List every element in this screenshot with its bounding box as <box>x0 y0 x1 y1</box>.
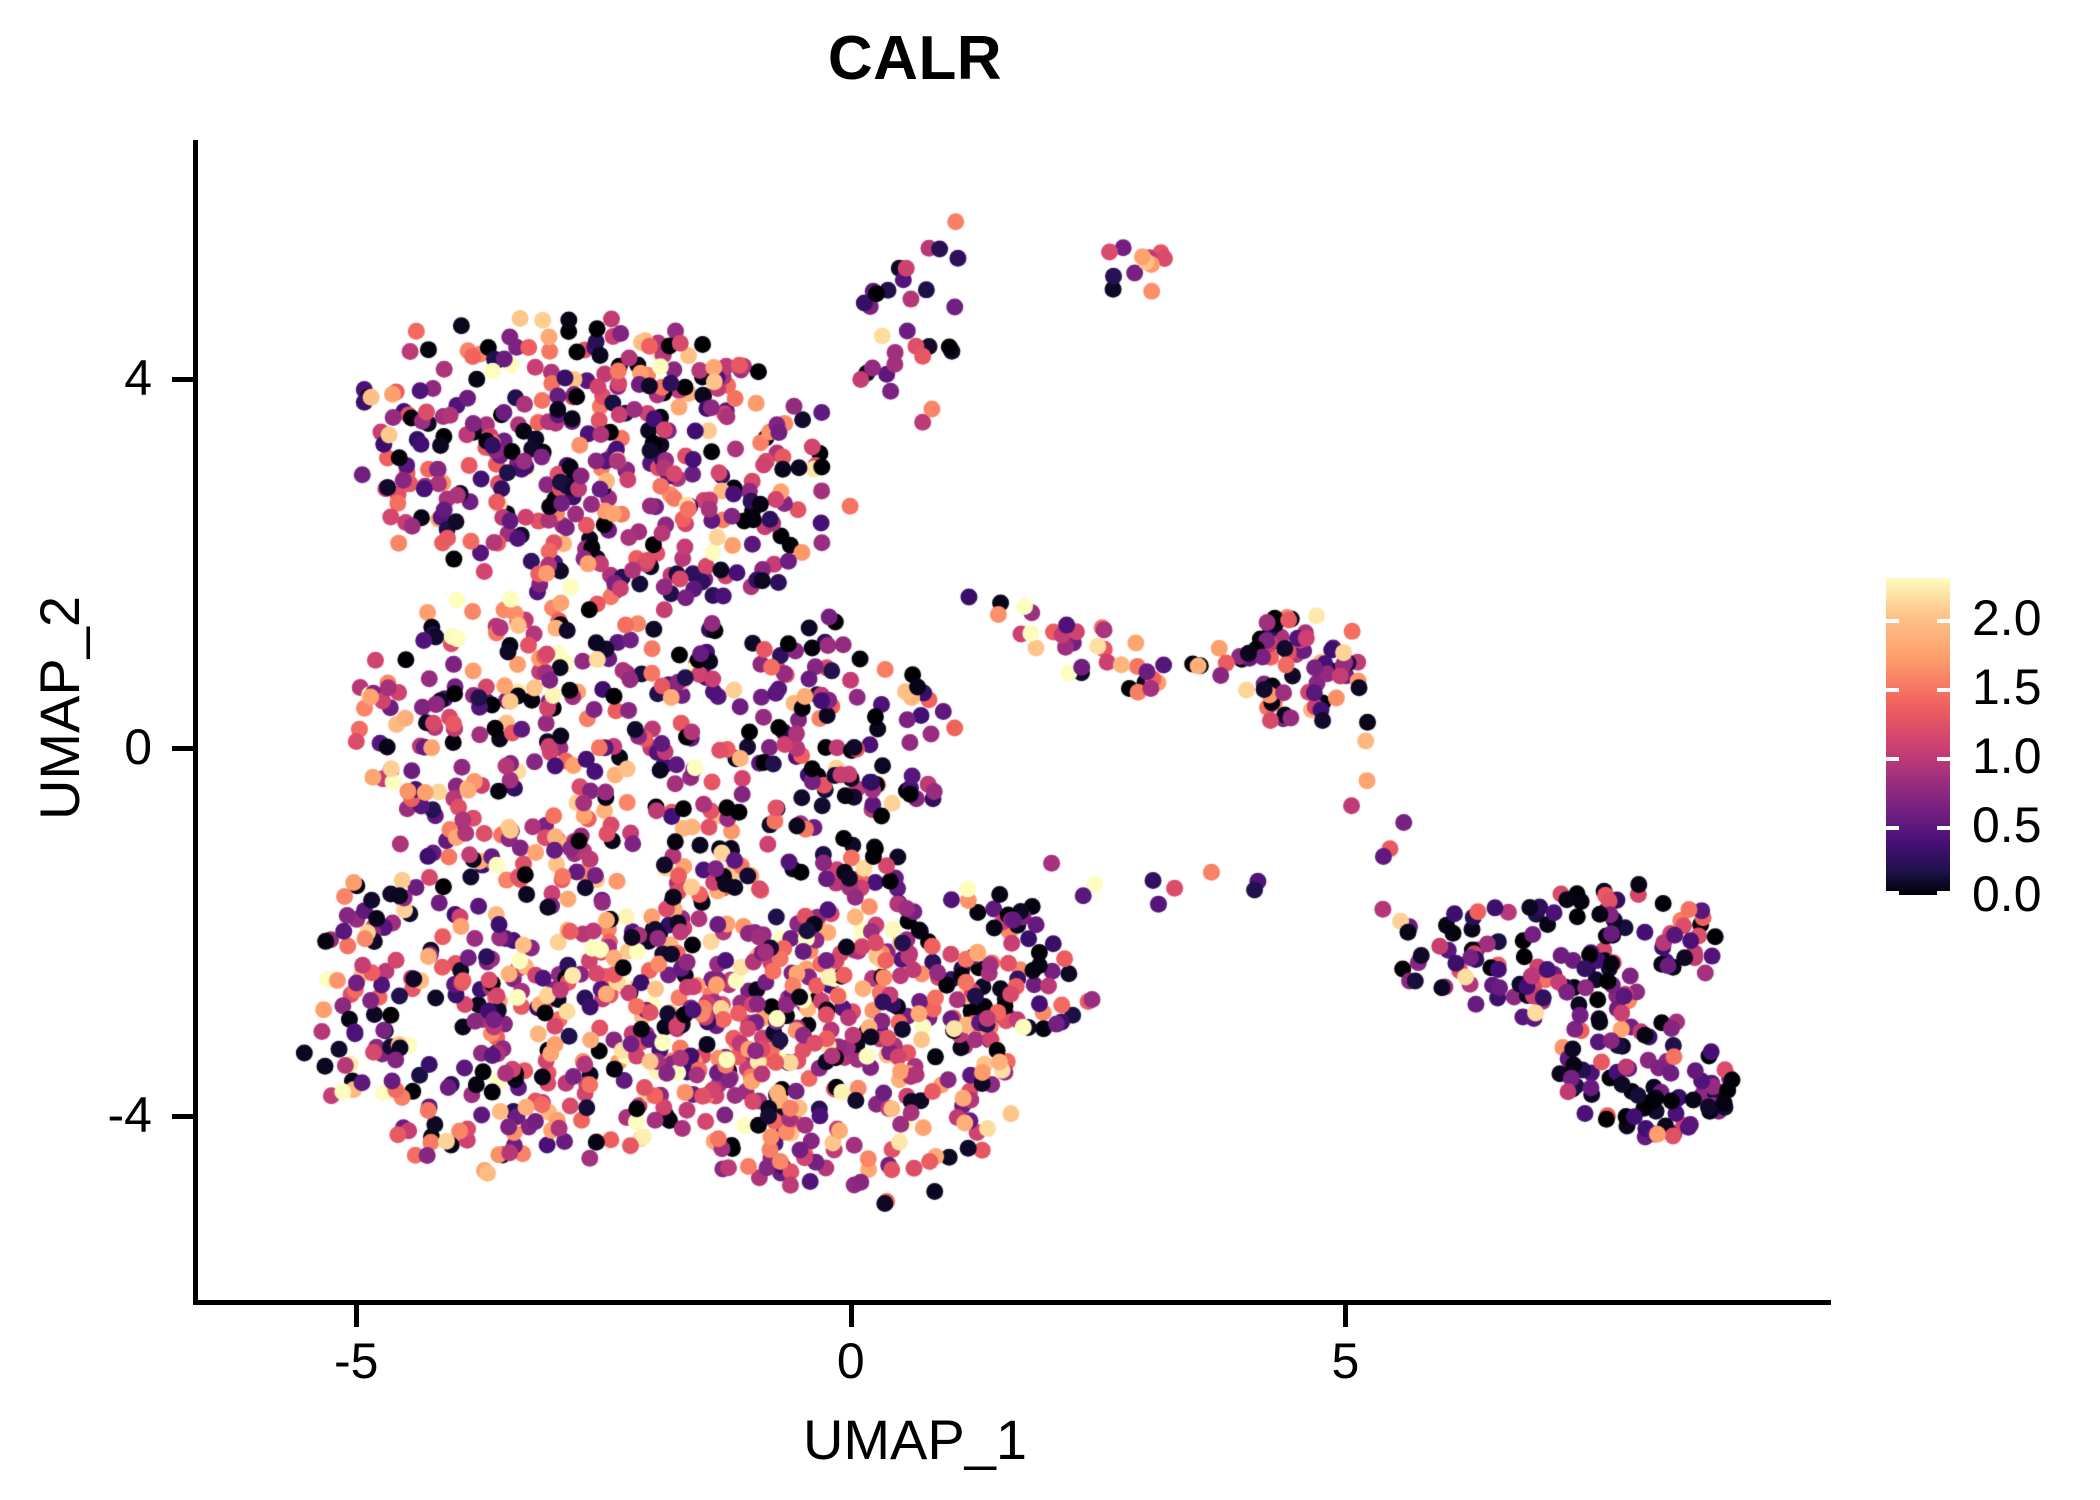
y-tick-label: -4 <box>32 1090 152 1140</box>
colorbar-tick <box>1886 826 1899 830</box>
y-axis-label: UMAP_2 <box>32 388 88 1028</box>
colorbar-tick <box>1937 619 1950 623</box>
colorbar-tick-label: 1.5 <box>1972 662 2100 712</box>
colorbar-tick <box>1937 757 1950 761</box>
x-tick-label: 5 <box>1265 1336 1425 1386</box>
colorbar-tick <box>1886 757 1899 761</box>
x-tick-mark <box>1343 1305 1348 1327</box>
colorbar-tick-label: 2.0 <box>1972 593 2100 643</box>
y-tick-mark <box>172 377 194 382</box>
colorbar-tick <box>1937 826 1950 830</box>
x-tick-mark <box>849 1305 854 1327</box>
x-axis-label: UMAP_1 <box>0 1412 1830 1468</box>
colorbar-gradient <box>1886 578 1950 895</box>
y-axis-line <box>193 140 198 1305</box>
y-tick-mark <box>172 1114 194 1119</box>
colorbar-tick <box>1937 688 1950 692</box>
x-tick-label: 0 <box>771 1336 931 1386</box>
x-tick-label: -5 <box>276 1336 436 1386</box>
colorbar-legend: 2.0 1.5 1.0 0.5 0.0 <box>1886 578 2096 898</box>
y-tick-mark <box>172 746 194 751</box>
colorbar-tick <box>1886 688 1899 692</box>
colorbar-tick <box>1937 891 1950 895</box>
page-title: CALR <box>0 28 1830 90</box>
scatter-points-canvas <box>198 140 1830 1300</box>
scatter-plot-area[interactable] <box>198 140 1830 1300</box>
colorbar-tick <box>1886 619 1899 623</box>
x-axis-line <box>193 1300 1831 1305</box>
colorbar-tick <box>1886 891 1899 895</box>
umap-feature-plot: CALR 4 0 -4 -5 0 5 UMAP_1 UMAP_2 2.0 1.5… <box>0 0 2100 1500</box>
colorbar-tick-label: 1.0 <box>1972 731 2100 781</box>
x-tick-mark <box>354 1305 359 1327</box>
colorbar-tick-label: 0.5 <box>1972 800 2100 850</box>
colorbar-tick-label: 0.0 <box>1972 869 2100 919</box>
